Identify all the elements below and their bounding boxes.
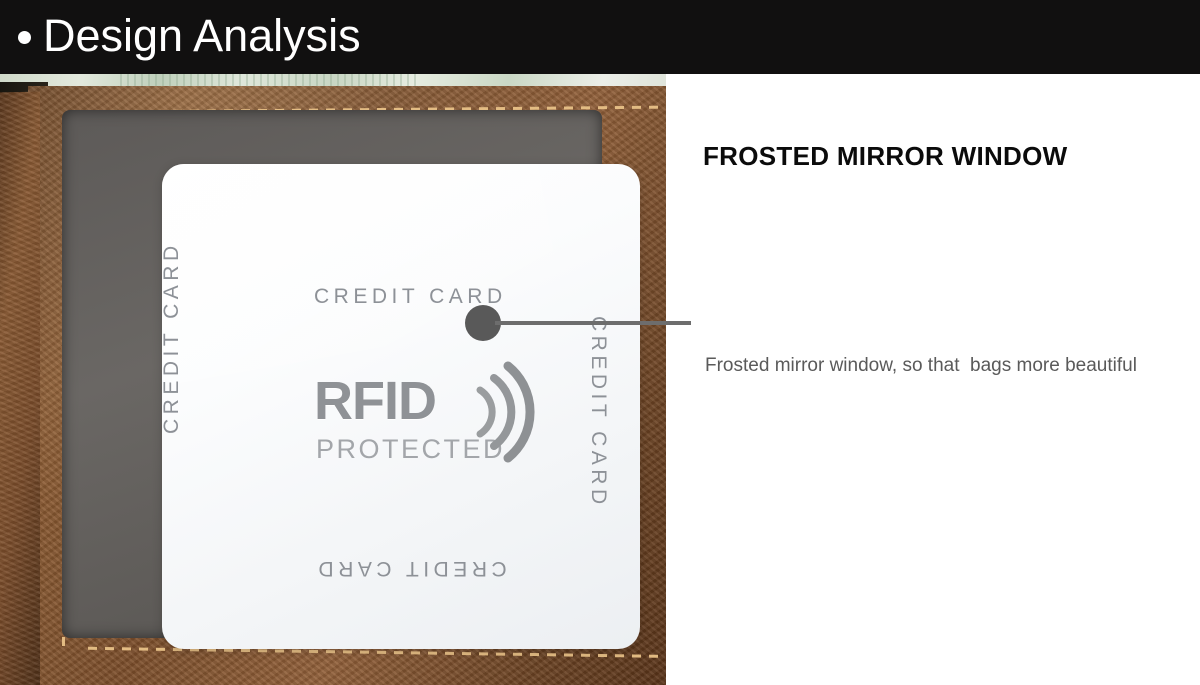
leather-fold-left: [0, 92, 40, 685]
feature-description: Frosted mirror window, so that bags more…: [705, 343, 1160, 389]
product-photo: CREDIT CARD CREDIT CARD CREDIT CARD CRED…: [0, 74, 666, 685]
card-sheen: [162, 164, 565, 388]
callout-leader-line: [495, 321, 691, 325]
card-label-bottom: CREDIT CARD: [314, 556, 507, 580]
rfid-logo: RFID PROTECTED: [314, 372, 574, 482]
header-bar: Design Analysis: [0, 0, 1200, 74]
feature-title: FROSTED MIRROR WINDOW: [703, 141, 1068, 172]
card-label-left: CREDIT CARD: [162, 241, 184, 434]
bullet-dot-icon: [18, 31, 31, 44]
frosted-window-frame: CREDIT CARD CREDIT CARD CREDIT CARD CRED…: [62, 110, 602, 638]
rfid-word: RFID: [314, 372, 436, 430]
page-title: Design Analysis: [43, 11, 361, 61]
rfid-waves-icon: [472, 360, 542, 469]
card-label-right: CREDIT CARD: [586, 316, 610, 509]
credit-card-mockup: CREDIT CARD CREDIT CARD CREDIT CARD CRED…: [162, 164, 640, 649]
